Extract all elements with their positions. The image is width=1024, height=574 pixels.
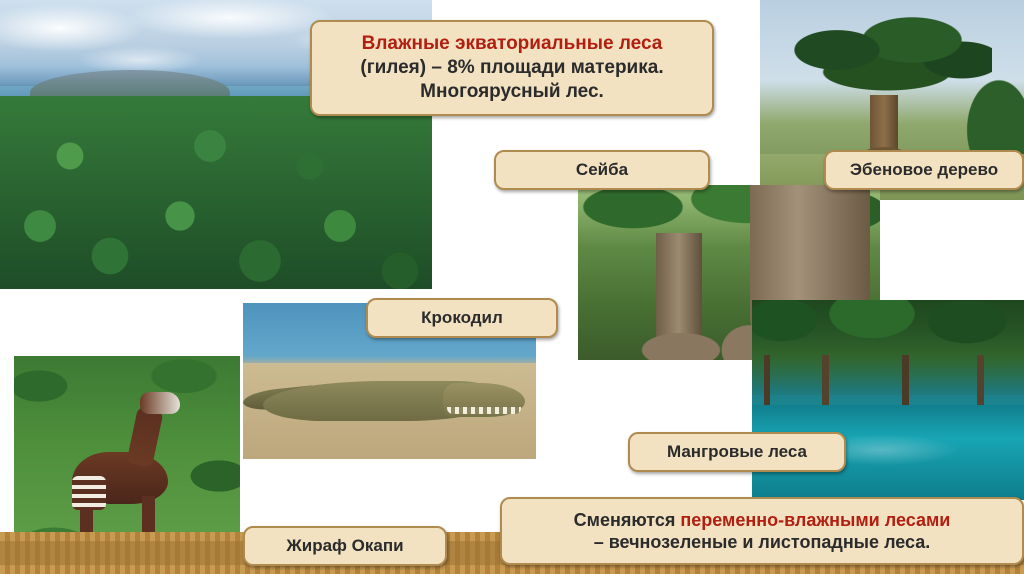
label-crocodile: Крокодил <box>366 298 558 338</box>
title-line-2: (гилея) – 8% площади материка. <box>360 56 663 80</box>
label-ceiba: Сейба <box>494 150 710 190</box>
bottom-line-1: Сменяются переменно-влажными лесами <box>574 509 951 532</box>
bottom-line-1-prefix: Сменяются <box>574 510 681 530</box>
label-crocodile-text: Крокодил <box>421 307 503 328</box>
bottom-line-1-highlight: переменно-влажными лесами <box>680 510 950 530</box>
okapi-stripes <box>72 476 106 510</box>
title-callout: Влажные экваториальные леса (гилея) – 8%… <box>310 20 714 116</box>
label-ceiba-text: Сейба <box>576 159 628 180</box>
secondary-trunk <box>656 233 702 360</box>
label-okapi-text: Жираф Окапи <box>286 535 403 556</box>
bottom-line-2: – вечнозеленые и листопадные леса. <box>594 531 931 554</box>
forest-canopy <box>0 96 432 289</box>
okapi-head <box>140 392 180 414</box>
slide-canvas: Влажные экваториальные леса (гилея) – 8%… <box>0 0 1024 574</box>
label-ebony-text: Эбеновое дерево <box>850 159 998 180</box>
label-ebony: Эбеновое дерево <box>824 150 1024 190</box>
label-okapi: Жираф Окапи <box>243 526 447 566</box>
label-mangrove: Мангровые леса <box>628 432 846 472</box>
title-line-1: Влажные экваториальные леса <box>362 32 663 56</box>
label-mangrove-text: Мангровые леса <box>667 441 807 462</box>
crocodile-teeth <box>447 407 521 414</box>
title-line-3: Многоярусный лес. <box>420 80 604 104</box>
bottom-callout: Сменяются переменно-влажными лесами – ве… <box>500 497 1024 565</box>
